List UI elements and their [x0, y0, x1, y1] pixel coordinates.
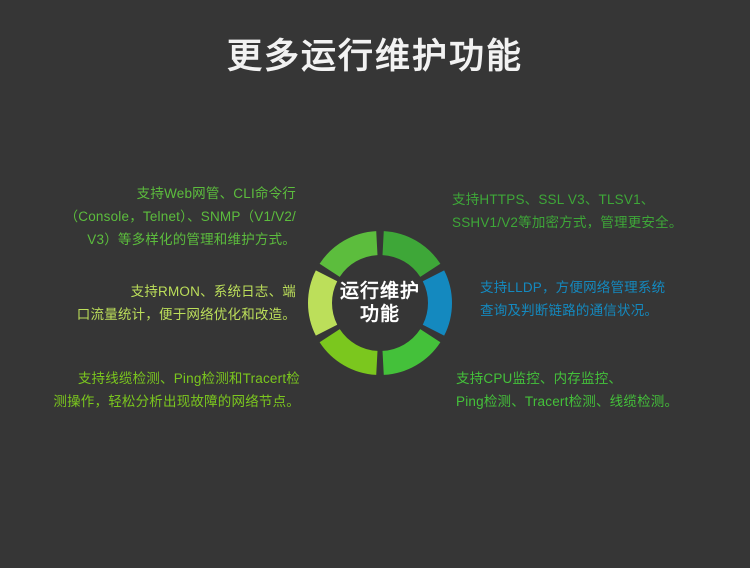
callout-rmon-logging: 支持RMON、系统日志、端 口流量统计，便于网络优化和改造。	[20, 280, 296, 326]
segment-bottom-right	[383, 329, 441, 375]
page-title: 更多运行维护功能	[0, 36, 750, 78]
segment-left-yellow	[308, 270, 337, 335]
segment-top-right	[383, 231, 441, 277]
slide-root: 更多运行维护功能 支持Web网管、CLI命令行 （Console，Telnet）…	[0, 0, 750, 568]
segment-right-blue	[423, 270, 452, 335]
callout-cable-ping-tracert: 支持线缆检测、Ping检测和Tracert检 测操作，轻松分析出现故障的网络节点…	[12, 367, 300, 413]
callout-web-management: 支持Web网管、CLI命令行 （Console，Telnet）、SNMP（V1/…	[8, 182, 296, 252]
callout-encryption: 支持HTTPS、SSL V3、TLSV1、 SSHV1/V2等加密方式，管理更安…	[452, 188, 744, 234]
donut-chart: 运行维护 功能	[293, 216, 467, 390]
callout-cpu-memory: 支持CPU监控、内存监控、 Ping检测、Tracert检测、线缆检测。	[456, 367, 742, 413]
callout-lldp: 支持LLDP，方便网络管理系统 查询及判断链路的通信状况。	[480, 276, 742, 322]
segment-top-left	[320, 231, 378, 277]
segment-bottom-left	[320, 329, 378, 375]
donut-chart-svg	[293, 216, 467, 390]
